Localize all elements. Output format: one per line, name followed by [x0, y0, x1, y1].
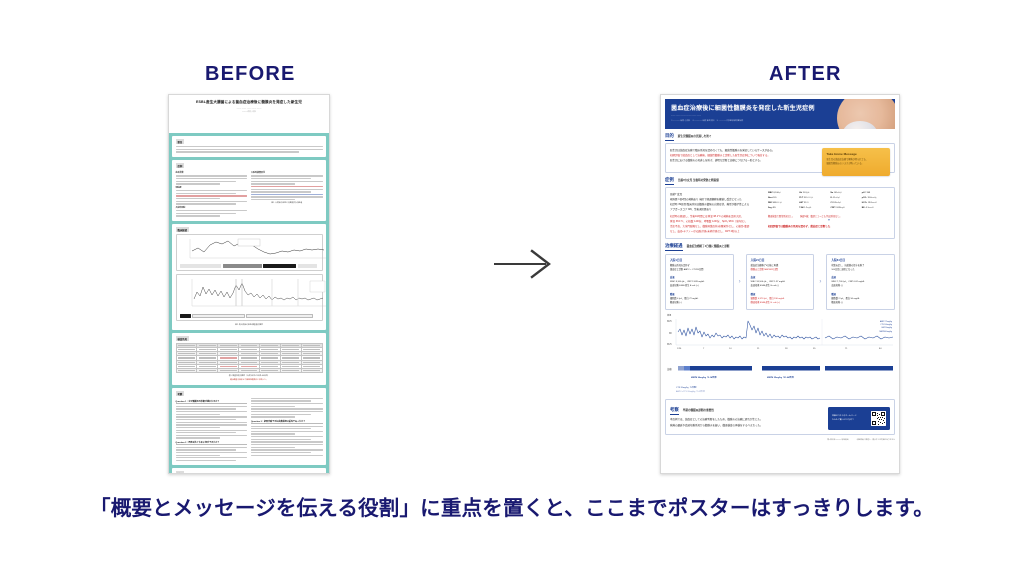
lab-unit: g/dL [807, 193, 810, 194]
after-course-day: 入院64日目 [831, 258, 890, 262]
after-poster-footer: 第○回日本○○○○○○学会総会 利益相反に関連し、開示すべき内容はありません [665, 438, 895, 441]
before-table-caption-red: 髄液検査の結果より細菌性髄膜炎と診断した。 [176, 379, 323, 382]
take-home-title: Take Home Message [827, 152, 886, 156]
after-course-line: 髄膜炎と診断 MEPM21日間 [751, 268, 810, 272]
take-home-message-box: Take Home Message 新生児の菌血症治療で解熱が得られても、 細菌… [822, 148, 890, 176]
after-poster-affiliation: １.○○○○○○病院 小児科 ２.○○○○○○○病院 新生児科 ３. ○○○○○… [671, 120, 889, 123]
svg-text:14: 14 [729, 348, 732, 350]
after-course-line: 105日目に退院となった [831, 268, 890, 272]
qr-code-icon [872, 412, 885, 425]
before-chart-2-drugbars [180, 314, 319, 318]
before-sublabel-illness: 現病歴 [176, 186, 248, 189]
after-case-columns: 日齢7 女児 現病歴 1日2回の発熱あり 当院で経過観察を継続し受診となった 初… [670, 192, 890, 235]
after-course-blood-heading: 血液 [751, 275, 810, 279]
lab-unit: mmHg [872, 198, 877, 199]
before-chart-1-drugbars [180, 264, 319, 268]
after-course-blood-line: 血液培養 ESBL産生 E.coli (+) [670, 284, 729, 288]
after-course-head: 治療経過 菌血症治療終了4日後に髄膜炎と診断 [665, 243, 895, 251]
drug-timeline-svg: 治療 [667, 365, 895, 372]
after-case-final: 初回評価では髄膜炎の所見を認めず、菌血症と診断した [768, 224, 890, 228]
before-section-heading: 要旨 [176, 139, 185, 144]
lab-cell: RBC 488×10⁴/µL [768, 202, 796, 206]
before-section-heading: 臨床経過 [176, 227, 190, 232]
after-section-case: 症例 日齢7の女児 生後時の発熱と精査値 日齢7 女児 現病歴 1日2回の発熱あ… [665, 177, 895, 239]
before-section-case: 症例 患者背景 現病歴 入院時現症 入院時検査所見 図1. 入院後の体温と抗菌薬… [172, 160, 326, 221]
after-section-purpose: 目的 新生児髄膜炎の見逃しを防ぐ Take Home Message 新生児の菌… [665, 133, 895, 173]
down-arrow-icon: ▼ [768, 219, 890, 222]
take-home-line: 細菌性髄膜炎のリスクが残っている。 [827, 162, 886, 166]
before-case-columns: 患者背景 現病歴 入院時現症 入院時検査所見 図1. 入院後の体温と抗菌薬投与の… [176, 170, 323, 218]
lab-unit: mEq/L [835, 198, 840, 199]
after-footer-item: 第○回日本○○○○○○学会総会 [827, 438, 848, 441]
lab-cell: AST 31U/L [799, 202, 827, 206]
before-discussion-col-right: Question 2：初回治療での抗菌薬選択は妥当であったか？ [251, 398, 323, 463]
before-case-col-right: 入院時検査所見 図1. 入院後の体温と抗菌薬投与の経過 [251, 170, 323, 218]
lab-unit: ×10⁴/µL [776, 203, 782, 204]
after-course-csf-line: 髄液培養 (-) [831, 301, 890, 305]
lab-unit: mmol/L [872, 203, 877, 204]
after-course-csf-heading: 髄液 [751, 292, 810, 296]
qr-code[interactable] [871, 411, 886, 426]
after-discussion-subtitle: 早期の髄膜炎診断の重要性 [683, 408, 714, 412]
lab-unit: mmol/L [869, 208, 874, 209]
before-section-labs: 検査所見 [172, 333, 326, 385]
legend-item: MEPM 40mg/kg [880, 331, 892, 334]
page-caption: 「概要とメッセージを伝える役割」に重点を置くと、ここまでポスターはすっきりします… [0, 491, 1024, 521]
svg-text:38: 38 [669, 333, 672, 335]
svg-text:21: 21 [757, 348, 760, 350]
before-label: BEFORE [205, 63, 296, 86]
lab-name: PLT [799, 197, 803, 199]
lab-unit: mEq/L [837, 193, 842, 194]
before-section-course: 臨床経過 [172, 224, 326, 330]
after-case-title: 症例 [665, 177, 674, 185]
after-course-csf-line: 髄液培養 ESBL産生 E. coli (+) [751, 301, 810, 305]
lab-cell: K 4.1mEq/L [831, 197, 859, 201]
lab-cell: pCO₂ 35.6mmHg [862, 197, 890, 201]
after-poster-authors: ○○○○ ○○○○ ○○○○ ○○○○ ○○○○ ○○○○ [671, 115, 889, 118]
lab-unit: U/L [806, 203, 808, 204]
svg-text:84: 84 [879, 348, 882, 350]
lab-cell: BE -5.1mmol/L [862, 207, 890, 211]
after-case-conclusions: 髄液検査で異常所見なし。 胸部X線、腹部エコーとも 特記所見なし。 [768, 214, 890, 218]
qr-callout-text: 詳細はコチラのホームページ からもご覧いただけます！ [832, 415, 868, 422]
after-footer-item: 利益相反に関連し、開示すべき内容はありません [857, 438, 895, 441]
after-course-blood-line: 血液培養 (-) [831, 284, 890, 288]
lab-unit: mg/dL [807, 208, 811, 209]
before-poster-header: ESBL産生大腸菌による菌血症治療後に髄膜炎を発症した新生児 ○○○○ ○○○○… [169, 95, 329, 133]
lab-unit: % [775, 198, 776, 199]
flow-arrow-icon: › [817, 254, 823, 310]
svg-text:35: 35 [813, 348, 816, 350]
lab-name: pCO₂ [862, 197, 867, 199]
lab-name: HCO₃ [862, 202, 868, 204]
lab-cell: Hb 15.2g/dL [799, 192, 827, 196]
lab-name: Neut [768, 197, 773, 199]
after-course-subtitle: 菌血症治療終了4日後に髄膜炎と診断 [687, 244, 730, 248]
before-poster-affiliation: ○○○○○○病院 小児科 [177, 112, 321, 114]
after-course-flow: 入院1日目 髄膜炎所見を認めず 菌血症と診断 ABPC + CTX20日間 血液… [665, 254, 895, 310]
after-course-card-2: 入院21日目 菌血症治療終了4日後に再燃 髄膜炎と診断 MEPM21日間 血液 … [746, 254, 815, 310]
after-case-head: 症例 日齢7の女児 生後時の発熱と精査値 [665, 177, 895, 185]
after-drug-timeline: 治療 MEPM 96mg/kg（3-14日目） MEPM 25mg/kg（21-… [667, 359, 893, 395]
lab-cell: HCO₃ 19.8mmol/L [862, 202, 890, 206]
after-discussion-head: 考察 早期の髄膜炎診断の重要性 [670, 407, 823, 415]
lab-name: AST [799, 202, 803, 204]
before-section-heading: 検査所見 [176, 336, 190, 341]
before-chart-2 [176, 274, 323, 322]
lab-unit: mEq/L [837, 203, 842, 204]
svg-text:36.5: 36.5 [667, 344, 672, 346]
drug-label-mepm-1: MEPM 96mg/kg（3-14日目） [691, 377, 718, 381]
after-course-card-1: 入院1日目 髄膜炎所見を認めず 菌血症と診断 ABPC + CTX20日間 血液… [665, 254, 734, 310]
before-poster-authors: ○○○○ ○○○○ ○○○○ ○○○○ ○○○○ [177, 108, 321, 111]
after-discussion-line: 発熱の遷延や血液培養所見から髄膜炎を疑い、髄液検査の再検をするべきだった。 [670, 423, 823, 428]
lab-cell: Cl 105mEq/L [831, 202, 859, 206]
chart-legend: ABPC 75mg/kg CTX 100mg/kg CAZ 50mg/kg ME… [880, 321, 892, 334]
lab-cell: PLT 19.1×10⁴/µL [799, 197, 827, 201]
after-temperature-chart: 体温 ABPC 75mg/kg CTX 100mg/kg CAZ 50mg/kg… [665, 314, 895, 395]
lab-unit: /µL [779, 193, 781, 194]
after-case-subtitle: 日齢7の女児 生後時の発熱と精査値 [678, 178, 719, 182]
lab-cell: CRP 13.89mg/dL [831, 207, 859, 211]
after-poster-header: 菌血症治療後に細菌性髄膜炎を発症した新生児症例 ○○○○ ○○○○ ○○○○ ○… [665, 99, 895, 129]
after-case-card: 日齢7 女児 現病歴 1日2回の発熱あり 当院で経過観察を継続し受診となった 初… [665, 187, 895, 239]
before-discussion-col-left: Question 1：なぜ髄膜炎の診断が遅れたのか？ Question 3：再発… [176, 398, 248, 463]
after-course-blood-heading: 血液 [831, 275, 890, 279]
before-section-conclusion: 結語 [172, 468, 326, 474]
svg-text:治療: 治療 [667, 367, 672, 371]
label-row: BEFORE AFTER [0, 63, 1024, 95]
lab-cell: Seg 48% [768, 207, 796, 211]
after-case-conclusion: 髄液検査で異常所見なし。 [768, 214, 794, 218]
before-poster[interactable]: ESBL産生大腸菌による菌血症治療後に髄膜炎を発症した新生児 ○○○○ ○○○○… [168, 94, 330, 474]
before-chart-2-svg [180, 277, 328, 313]
after-course-csf-heading: 髄液 [670, 292, 729, 296]
lab-name: RBC [768, 202, 772, 204]
after-case-right: WBC 8,100/µL Hb 15.2g/dL Na 141mEq/L pH … [768, 192, 890, 235]
table-row [176, 368, 322, 372]
after-label: AFTER [769, 63, 842, 86]
after-course-blood-line: 血液培養 ESBL産生 E.coli (-) [751, 284, 810, 288]
before-sublabel-labs: 入院時検査所見 [251, 171, 323, 174]
after-case-conclusion: 胸部X線、腹部エコーとも 特記所見なし。 [800, 214, 841, 218]
temperature-chart-svg: 39.5 38 36.5 1/26 7 14 21 28 35 71 84 [667, 317, 895, 353]
after-poster[interactable]: 菌血症治療後に細菌性髄膜炎を発症した新生児症例 ○○○○ ○○○○ ○○○○ ○… [660, 94, 900, 474]
flow-arrow-icon: › [737, 254, 743, 310]
before-section-heading: 症例 [176, 163, 185, 168]
before-question-2: Question 2：初回治療での抗菌薬選択は妥当であったか？ [251, 420, 323, 425]
after-section-discussion: 考察 早期の髄膜炎診断の重要性 本症例では、菌血症としての治療判断をしたため、髄… [665, 399, 895, 441]
after-course-csf-line: 髄液培養 (-) [670, 301, 729, 305]
before-case-note: 図1. 入院後の体温と抗菌薬投与の経過 [251, 202, 323, 205]
after-purpose-head: 目的 新生児髄膜炎の見逃しを防ぐ [665, 133, 895, 141]
after-course-day: 入院21日目 [751, 258, 810, 262]
before-sublabel-exam: 入院時現症 [176, 206, 248, 209]
before-chart-1 [176, 234, 323, 272]
before-lab-table [176, 343, 323, 373]
after-course-day: 入院1日目 [670, 258, 729, 262]
before-sublabel-patient: 患者背景 [176, 171, 248, 174]
after-course-line: 菌血症と診断 ABPC + CTX20日間 [670, 268, 729, 272]
before-poster-body: 要旨 症例 患者背景 現病歴 入院時現症 入院時検査所見 [169, 133, 329, 474]
lab-unit: ×10⁴/µL [808, 198, 814, 199]
after-discussion-title: 考察 [670, 407, 679, 415]
after-course-csf-heading: 髄液 [831, 292, 890, 296]
before-section-discussion: 考察 Question 1：なぜ髄膜炎の診断が遅れたのか？ Question 3… [172, 388, 326, 466]
lab-cell: pH 7.368 [862, 192, 890, 196]
drug-label-mepm-2: MEPM 25mg/kg（21-64日目） [767, 377, 795, 381]
after-discussion-row: 考察 早期の髄膜炎診断の重要性 本症例では、菌血症としての治療判断をしたため、髄… [670, 407, 890, 430]
after-purpose-title: 目的 [665, 133, 674, 141]
before-text-block [176, 146, 323, 153]
lab-unit: % [775, 208, 776, 209]
lab-cell: Na 141mEq/L [831, 192, 859, 196]
before-poster-title: ESBL産生大腸菌による菌血症治療後に髄膜炎を発症した新生児 [177, 100, 321, 105]
before-discussion-columns: Question 1：なぜ髄膜炎の診断が遅れたのか？ Question 3：再発… [176, 398, 323, 463]
transition-arrow [492, 248, 554, 280]
lab-cell: Neut 53% [768, 197, 796, 201]
before-case-col-left: 患者背景 現病歴 入院時現症 [176, 170, 248, 218]
after-course-title: 治療経過 [665, 243, 683, 251]
after-course-card-3: 入院64日目 状態安定し、抗菌薬の投与を終了 105日目に退院となった 血液 W… [826, 254, 895, 310]
after-poster-inner: 菌血症治療後に細菌性髄膜炎を発症した新生児症例 ○○○○ ○○○○ ○○○○ ○… [661, 95, 899, 473]
after-poster-title: 菌血症治療後に細菌性髄膜炎を発症した新生児症例 [671, 103, 889, 112]
lab-name: Hb [799, 192, 802, 194]
before-question-1: Question 1：なぜ髄膜炎の診断が遅れたのか？ [176, 400, 248, 405]
after-purpose-subtitle: 新生児髄膜炎の見逃しを防ぐ [678, 134, 712, 138]
qr-callout-box[interactable]: 詳細はコチラのホームページ からもご覧いただけます！ [828, 407, 890, 430]
after-lab-grid: WBC 8,100/µL Hb 15.2g/dL Na 141mEq/L pH … [768, 192, 890, 211]
after-case-left: 日齢7 女児 現病歴 1日2回の発熱あり 当院で経過観察を継続し受診となった 初… [670, 192, 762, 235]
before-chart-1-svg [180, 237, 328, 263]
lab-value: 7.368 [865, 192, 870, 194]
before-chart-2-caption: 図2. 再入院後の体温・検査値の推移 [176, 324, 323, 327]
before-section-abstract: 要旨 [172, 136, 326, 157]
lab-cell: T-Bil 1.2mg/dL [799, 207, 827, 211]
before-section-heading: 考察 [176, 391, 185, 396]
drug-label-abpc-ctx: ABPC+CTX 20mg/kg（1-3日目） [676, 391, 893, 395]
qr-callout-line: からもご覧いただけます！ [832, 419, 868, 423]
after-discussion-card: 考察 早期の髄膜炎診断の重要性 本症例では、菌血症としての治療判断をしたため、髄… [665, 399, 895, 435]
right-arrow-icon [492, 248, 554, 280]
lab-cell: WBC 8,100/µL [768, 192, 796, 196]
svg-text:39.5: 39.5 [667, 321, 672, 323]
after-course-blood-heading: 血液 [670, 275, 729, 279]
svg-text:1/26: 1/26 [677, 348, 682, 350]
before-table-caption: 表1. 検査所見の推移（入院1日目・21日目・64日目） [176, 375, 323, 378]
after-discussion-body: 考察 早期の髄膜炎診断の重要性 本症例では、菌血症としての治療判断をしたため、髄… [670, 407, 823, 430]
svg-text:71: 71 [845, 348, 848, 350]
after-section-course: 治療経過 菌血症治療終了4日後に髄膜炎と診断 入院1日目 髄膜炎所見を認めず 菌… [665, 243, 895, 310]
lab-unit: mg/dL [841, 208, 845, 209]
after-case-red-line: なし、皮疹・チアノーゼ・四肢冷感・末梢冷感なし、CRT 2秒以上 [670, 229, 762, 234]
before-section-heading: 結語 [176, 471, 185, 474]
svg-text:7: 7 [703, 348, 705, 350]
before-question-3: Question 3：再発を防ぐために何ができたか？ [176, 441, 248, 446]
after-purpose-card: Take Home Message 新生児の菌血症治療で解熱が得られても、 細菌… [665, 143, 895, 173]
svg-text:28: 28 [785, 348, 788, 350]
